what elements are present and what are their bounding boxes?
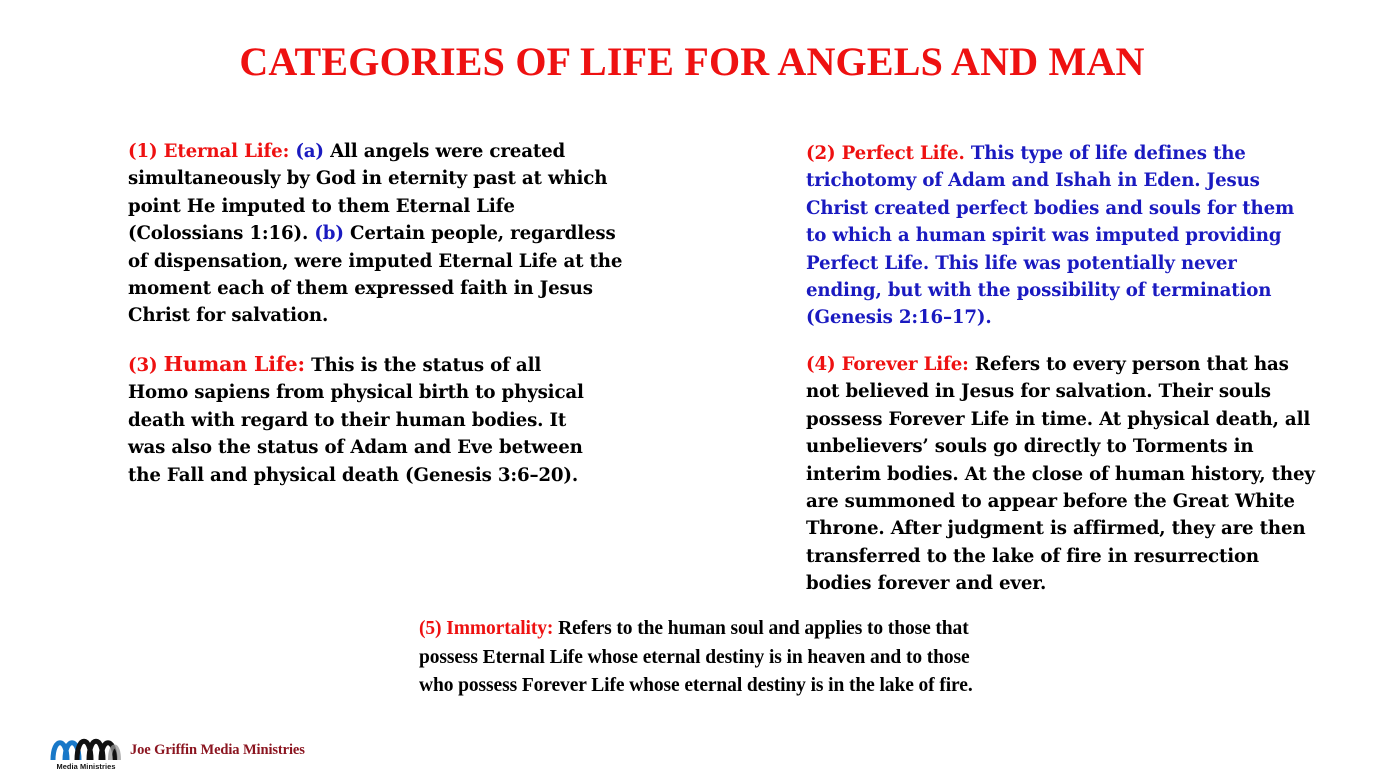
- text-block-immortality: (5) Immortality: Refers to the human sou…: [419, 615, 979, 701]
- label-number-3: (3): [128, 355, 157, 376]
- label-eternal-life-text: Eternal Life:: [164, 141, 290, 162]
- label-immortality: Immortality:: [446, 618, 553, 639]
- text-block-human-life: (3) Human Life: This is the status of al…: [128, 351, 598, 489]
- label-number-4: (4): [806, 354, 835, 375]
- label-number-1: (1): [128, 141, 157, 162]
- text-block-forever-life: (4) Forever Life: Refers to every person…: [806, 351, 1318, 598]
- footer: Media Ministries Joe Griffin Media Minis…: [50, 729, 305, 771]
- page-title: CATEGORIES OF LIFE FOR ANGELS AND MAN: [0, 38, 1384, 85]
- label-number-5: (5): [419, 618, 441, 639]
- label-number-2: (2): [806, 143, 835, 164]
- slide-canvas: CATEGORIES OF LIFE FOR ANGELS AND MAN (1…: [0, 0, 1384, 779]
- logo-subtitle: Media Ministries: [50, 762, 122, 771]
- forever-life-text: Refers to every person that has not beli…: [806, 354, 1315, 594]
- text-block-eternal-life: (1) Eternal Life: (a) All angels were cr…: [128, 138, 628, 330]
- label-forever-life: Forever Life:: [842, 354, 969, 375]
- perfect-life-text: This type of life defines the trichotomy…: [806, 143, 1294, 328]
- label-sub-a: (a): [295, 141, 324, 162]
- label-perfect-life: Perfect Life.: [842, 143, 965, 164]
- text-block-perfect-life: (2) Perfect Life. This type of life defi…: [806, 140, 1316, 332]
- wave-arcs-logo-icon: Media Ministries: [50, 729, 122, 771]
- label-sub-b: (b): [314, 223, 343, 244]
- ministry-name: Joe Griffin Media Ministries: [130, 742, 305, 771]
- label-human-life: Human Life:: [164, 352, 305, 376]
